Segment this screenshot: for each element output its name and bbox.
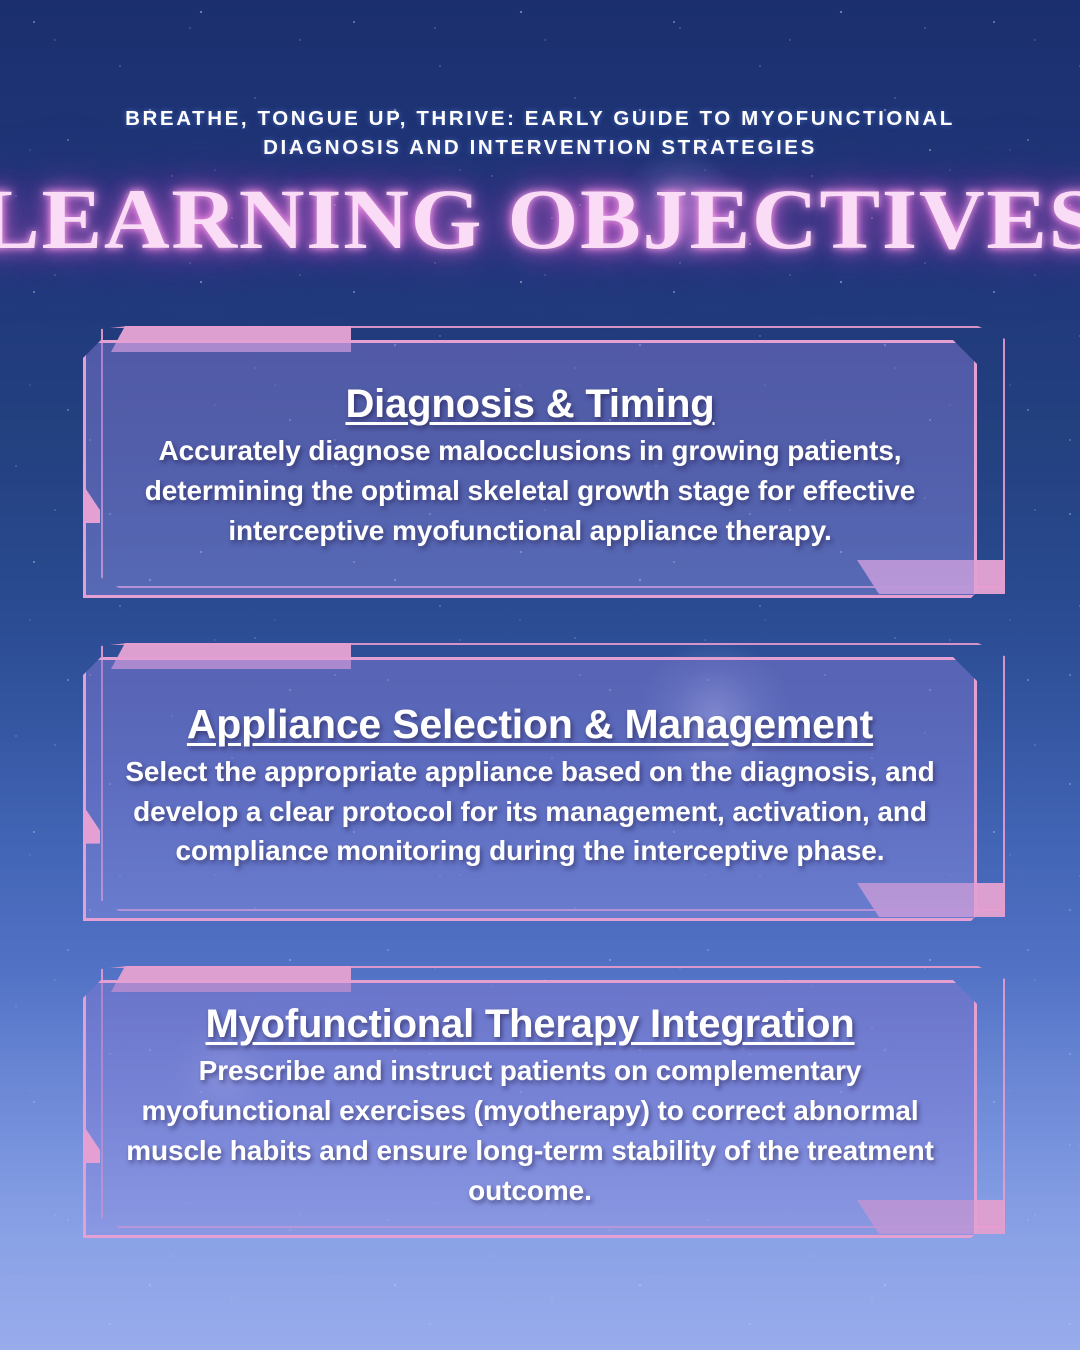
- card-heading: Myofunctional Therapy Integration: [206, 1001, 855, 1047]
- card-body: Diagnosis & Timing Accurately diagnose m…: [83, 340, 977, 598]
- card-description: Accurately diagnose malocclusions in gro…: [124, 431, 936, 550]
- card-body: Myofunctional Therapy Integration Prescr…: [83, 980, 977, 1238]
- card-left-notch: [86, 489, 100, 523]
- objectives-list: Diagnosis & Timing Accurately diagnose m…: [0, 326, 1080, 1238]
- card-description: Prescribe and instruct patients on compl…: [124, 1051, 936, 1210]
- card-left-notch: [86, 810, 100, 844]
- objective-card-1: Diagnosis & Timing Accurately diagnose m…: [75, 326, 1005, 598]
- poster-header: BREATHE, TONGUE UP, THRIVE: EARLY GUIDE …: [0, 0, 1080, 264]
- objective-card-2: Appliance Selection & Management Select …: [75, 643, 1005, 921]
- objective-card-3: Myofunctional Therapy Integration Prescr…: [75, 966, 1005, 1238]
- page-title: LEARNING OBJECTIVES: [0, 176, 1080, 264]
- card-body: Appliance Selection & Management Select …: [83, 657, 977, 921]
- poster-eyebrow: BREATHE, TONGUE UP, THRIVE: EARLY GUIDE …: [100, 104, 980, 162]
- card-left-notch: [86, 1129, 100, 1163]
- card-heading: Diagnosis & Timing: [345, 381, 714, 427]
- card-heading: Appliance Selection & Management: [187, 701, 873, 748]
- card-description: Select the appropriate appliance based o…: [124, 752, 936, 871]
- learning-objectives-poster: BREATHE, TONGUE UP, THRIVE: EARLY GUIDE …: [0, 0, 1080, 1350]
